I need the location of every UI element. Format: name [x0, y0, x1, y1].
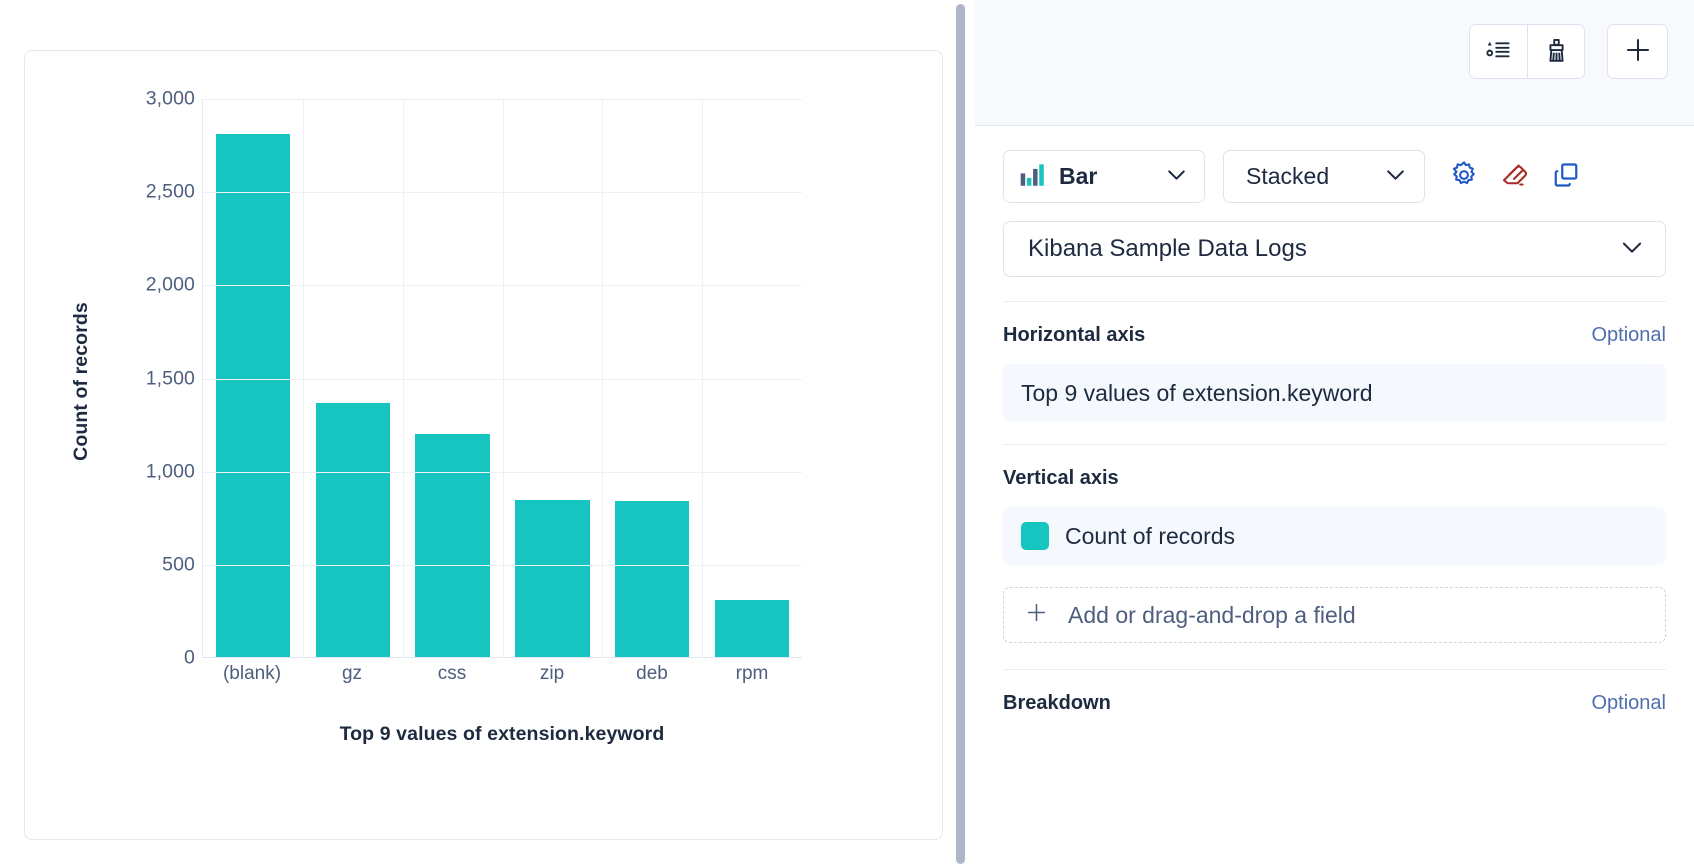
- data-source-select[interactable]: Kibana Sample Data Logs: [1003, 221, 1666, 277]
- x-axis-tick-label: rpm: [702, 663, 802, 691]
- y-axis-tick-label: 2,500: [146, 181, 195, 204]
- vertical-axis-title: Vertical axis: [1003, 467, 1119, 490]
- x-axis-tick-label: zip: [502, 663, 602, 691]
- y-axis-tick-label: 3,000: [146, 88, 195, 111]
- header-toolbar: [1469, 24, 1668, 79]
- x-axis-ticks: (blank)gzcsszipdebrpm: [202, 663, 802, 691]
- data-source-value: Kibana Sample Data Logs: [1028, 235, 1307, 263]
- clear-layer-button[interactable]: [1500, 160, 1530, 193]
- gridline-vertical: [602, 99, 603, 658]
- plus-icon: [1024, 600, 1049, 630]
- appearance-brush-button[interactable]: [1527, 25, 1584, 78]
- add-field-dropzone-label: Add or drag-and-drop a field: [1068, 602, 1356, 629]
- horizontal-axis-field-label: Top 9 values of extension.keyword: [1021, 380, 1373, 407]
- chart-panel: Count of records 3,0002,5002,0001,5001,0…: [24, 50, 943, 840]
- x-axis-tick-label: css: [402, 663, 502, 691]
- workspace-scrollbar[interactable]: [956, 4, 965, 864]
- vertical-axis-field-label: Count of records: [1065, 523, 1235, 550]
- horizontal-axis-optional: Optional: [1592, 324, 1667, 347]
- horizontal-axis-title: Horizontal axis: [1003, 324, 1145, 347]
- bar[interactable]: [415, 434, 489, 658]
- x-axis-tick-label: (blank): [202, 663, 302, 691]
- divider: [1003, 301, 1666, 302]
- y-axis-tick-label: 0: [184, 647, 195, 670]
- bar[interactable]: [715, 600, 789, 658]
- chevron-down-icon: [1618, 233, 1646, 266]
- legend-list-icon: [1485, 37, 1512, 67]
- paintbrush-icon: [1543, 37, 1570, 67]
- bar[interactable]: [216, 134, 290, 658]
- horizontal-axis-field[interactable]: Top 9 values of extension.keyword: [1003, 364, 1666, 422]
- gridline-vertical: [702, 99, 703, 658]
- chart-style-label: Stacked: [1246, 163, 1329, 190]
- y-axis-ticks: 3,0002,5002,0001,5001,0005000: [103, 51, 195, 841]
- config-panel-body: Bar Stacked: [975, 126, 1694, 868]
- breakdown-section-header: Breakdown Optional: [1003, 692, 1666, 715]
- y-axis-tick-label: 2,000: [146, 274, 195, 297]
- eraser-icon: [1500, 160, 1530, 193]
- chevron-down-icon: [1383, 162, 1408, 192]
- gridline-vertical: [403, 99, 404, 658]
- config-panel-header: [975, 0, 1694, 126]
- chart-type-label: Bar: [1059, 163, 1097, 190]
- y-axis-tick-label: 500: [162, 553, 195, 576]
- bar-chart-icon: [1019, 162, 1046, 192]
- visualization-controls-row: Bar Stacked: [1003, 150, 1666, 203]
- gridline-vertical: [503, 99, 504, 658]
- lens-editor-root: Count of records 3,0002,5002,0001,5001,0…: [0, 0, 1694, 868]
- plus-icon: [1623, 35, 1653, 68]
- x-axis-tick-label: deb: [602, 663, 702, 691]
- layer-settings-button[interactable]: [1449, 160, 1479, 193]
- divider: [1003, 444, 1666, 445]
- copy-icon: [1551, 160, 1581, 193]
- vertical-axis-field[interactable]: Count of records: [1003, 507, 1666, 565]
- chart-canvas[interactable]: Count of records 3,0002,5002,0001,5001,0…: [25, 51, 942, 839]
- y-axis-title-text: Count of records: [70, 302, 93, 461]
- y-axis-tick-label: 1,500: [146, 367, 195, 390]
- chart-style-select[interactable]: Stacked: [1223, 150, 1425, 203]
- gridline-vertical: [303, 99, 304, 658]
- chart-type-select[interactable]: Bar: [1003, 150, 1205, 203]
- y-axis-tick-label: 1,000: [146, 460, 195, 483]
- header-button-group: [1469, 24, 1585, 79]
- layer-action-icons: [1449, 160, 1581, 193]
- x-axis-title: Top 9 values of extension.keyword: [202, 723, 802, 746]
- breakdown-optional: Optional: [1592, 692, 1667, 715]
- vertical-axis-section-header: Vertical axis: [1003, 467, 1666, 490]
- bar[interactable]: [615, 501, 689, 658]
- config-panel: Bar Stacked: [975, 0, 1694, 868]
- chart-workspace: Count of records 3,0002,5002,0001,5001,0…: [0, 0, 975, 868]
- y-axis-title: Count of records: [61, 231, 101, 531]
- duplicate-layer-button[interactable]: [1551, 160, 1581, 193]
- legend-settings-button[interactable]: [1470, 25, 1527, 78]
- horizontal-axis-section-header: Horizontal axis Optional: [1003, 324, 1666, 347]
- plot-area: [202, 99, 802, 658]
- add-field-dropzone[interactable]: Add or drag-and-drop a field: [1003, 587, 1666, 643]
- series-color-swatch[interactable]: [1021, 522, 1049, 550]
- divider: [1003, 669, 1666, 670]
- bar[interactable]: [316, 403, 390, 658]
- x-axis-tick-label: gz: [302, 663, 402, 691]
- add-layer-button[interactable]: [1607, 24, 1668, 79]
- breakdown-title: Breakdown: [1003, 692, 1111, 715]
- chevron-down-icon: [1164, 162, 1189, 192]
- bar[interactable]: [515, 500, 589, 658]
- gear-icon: [1449, 160, 1479, 193]
